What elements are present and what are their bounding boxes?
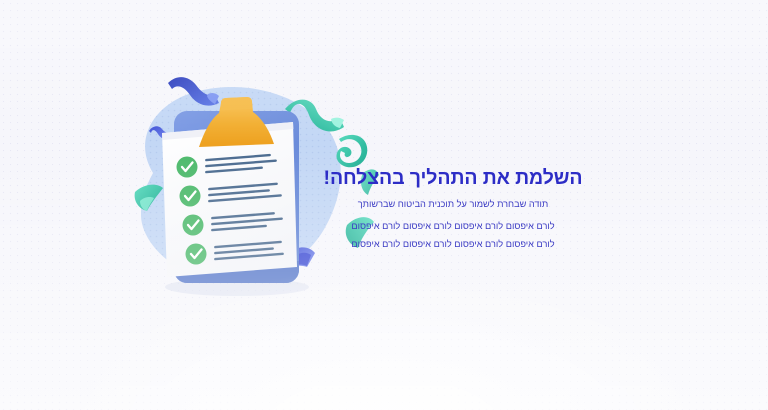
check-circle-icon (183, 215, 204, 236)
subtitle-line-3: לורם איפסום לורם איפסום לורם איפסום לורם… (288, 236, 618, 252)
success-page: השלמת את התהליך בהצלחה! תודה שבחרת לשמור… (0, 0, 768, 410)
check-circle-icon (180, 186, 201, 207)
confetti-ribbon-teal-spiral-right (336, 135, 367, 167)
check-circle-icon (177, 157, 198, 178)
subtitle-line-1: תודה שבחרת לשמור על תוכנית הביטוח שברשות… (288, 196, 618, 212)
check-circle-icon (186, 244, 207, 265)
page-title: השלמת את התהליך בהצלחה! (288, 166, 618, 190)
subtitle-line-2: לורם איפסום לורם איפסום לורם איפסום לורם… (288, 218, 618, 234)
success-message-block: השלמת את התהליך בהצלחה! תודה שבחרת לשמור… (288, 166, 618, 253)
